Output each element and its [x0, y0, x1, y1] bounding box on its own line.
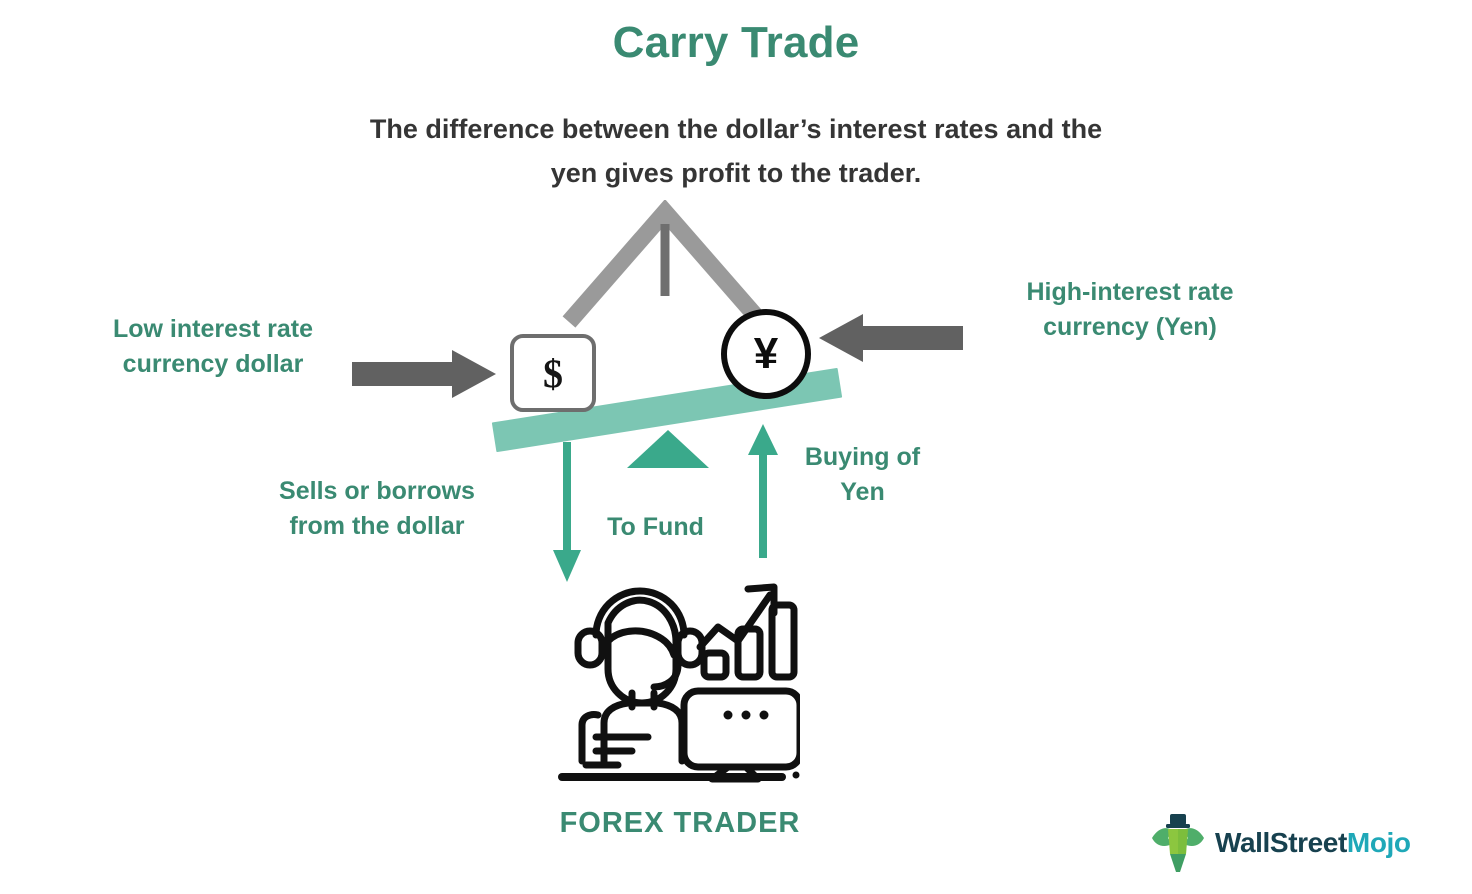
high-interest-label-line-1: High-interest rate	[960, 275, 1300, 310]
dollar-symbol-icon: $	[510, 334, 596, 412]
up-chevron-icon	[555, 200, 775, 330]
fulcrum-triangle-icon	[627, 430, 709, 468]
logo-text-part-a: WallStreet	[1215, 827, 1347, 858]
high-interest-label-line-2: currency (Yen)	[960, 310, 1300, 345]
sells-borrows-label-line-2: from the dollar	[212, 509, 542, 544]
wallstreetmojo-wordmark: WallStreetMojo	[1215, 827, 1411, 859]
infographic-canvas: Carry Trade The difference between the d…	[0, 0, 1472, 894]
sells-borrows-label: Sells or borrows from the dollar	[212, 474, 542, 543]
forex-trader-icon	[552, 565, 800, 783]
buying-yen-label-line-1: Buying of	[770, 440, 955, 475]
low-interest-label: Low interest rate currency dollar	[48, 312, 378, 381]
high-interest-label: High-interest rate currency (Yen)	[960, 275, 1300, 344]
yen-symbol-icon: ¥	[721, 309, 811, 399]
subtitle-line-2: yen gives profit to the trader.	[236, 151, 1236, 195]
buying-yen-label: Buying of Yen	[770, 440, 955, 509]
page-subtitle: The difference between the dollar’s inte…	[236, 107, 1236, 195]
buying-yen-label-line-2: Yen	[770, 475, 955, 510]
wallstreetmojo-logo: WallStreetMojo	[1150, 812, 1411, 874]
wallstreetmojo-mascot-icon	[1150, 812, 1206, 874]
logo-text-part-b: Mojo	[1347, 827, 1411, 858]
subtitle-line-1: The difference between the dollar’s inte…	[236, 107, 1236, 151]
low-interest-label-line-2: currency dollar	[48, 347, 378, 382]
to-fund-label: To Fund	[578, 510, 733, 545]
low-interest-label-line-1: Low interest rate	[48, 312, 378, 347]
forex-trader-label: FOREX TRADER	[470, 803, 890, 843]
sells-borrows-label-line-1: Sells or borrows	[212, 474, 542, 509]
right-gray-arrow-icon	[817, 312, 963, 364]
page-title: Carry Trade	[0, 18, 1472, 68]
